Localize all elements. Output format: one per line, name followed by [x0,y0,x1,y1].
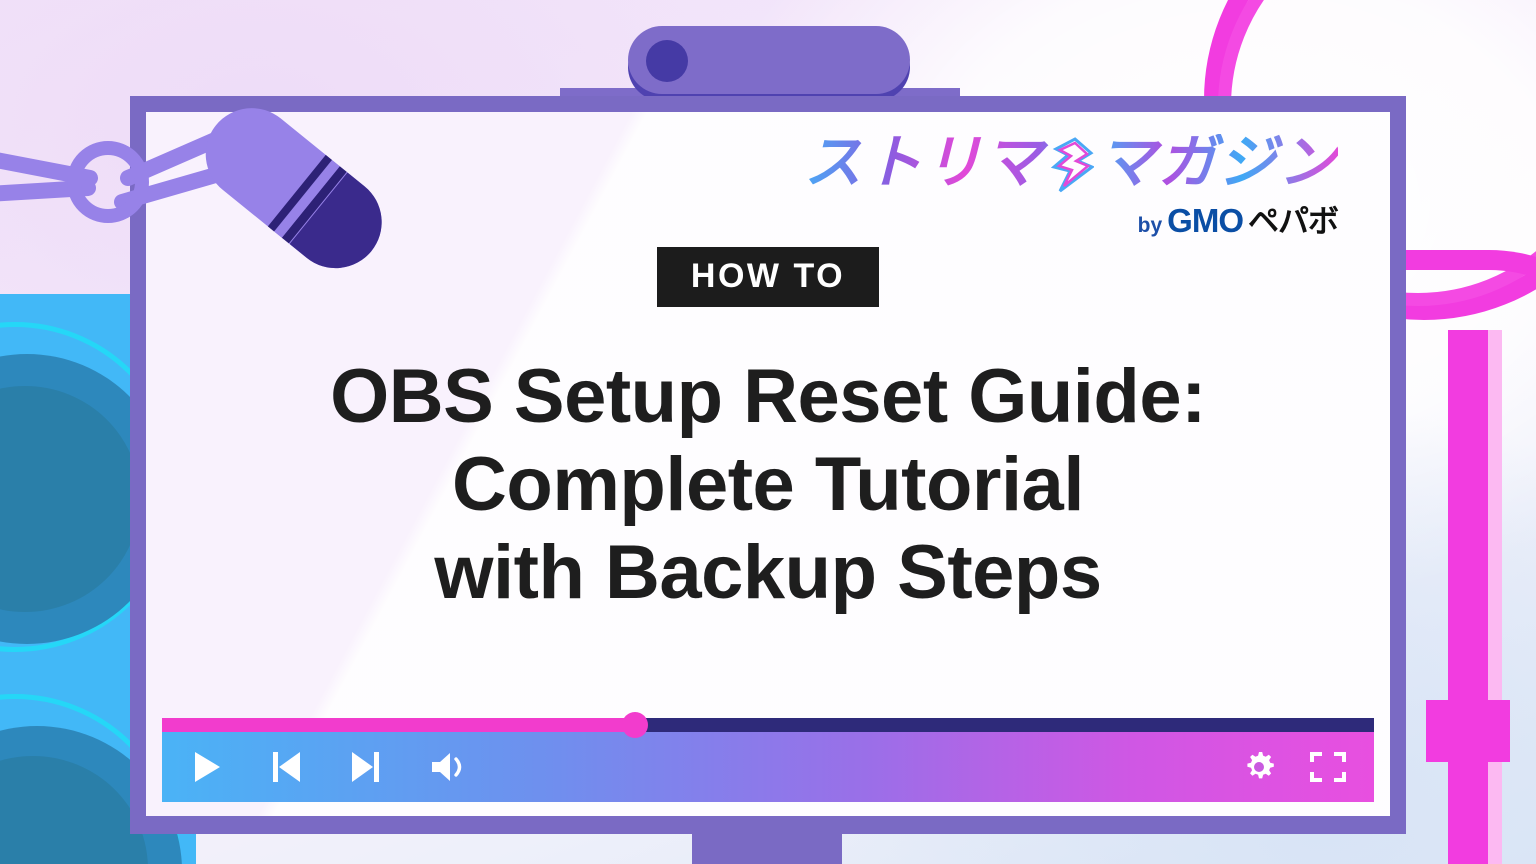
headphone-post [1448,330,1488,864]
player-options [1242,750,1346,784]
lightning-bolt-icon [1048,137,1094,193]
fullscreen-icon[interactable] [1310,752,1346,782]
headphone-earcup [1426,700,1510,762]
title-line-1: OBS Setup Reset Guide: [330,353,1206,441]
brand-wordmark: ストリマ マガジン [804,134,1338,192]
webcam-icon [628,26,910,94]
poster-canvas: ストリマ マガジン by GMO ペパボ [0,0,1536,864]
headphone-post-highlight [1486,330,1502,864]
brand-by-label: by [1138,214,1163,238]
previous-track-icon[interactable] [270,750,302,784]
settings-gear-icon[interactable] [1242,750,1276,784]
screen-content: ストリマ マガジン by GMO ペパボ [146,112,1390,718]
title-line-3: with Backup Steps [330,529,1206,617]
monitor-frame: ストリマ マガジン by GMO ペパボ [130,96,1406,834]
screen: ストリマ マガジン by GMO ペパボ [146,112,1390,816]
next-track-icon[interactable] [350,750,382,784]
player-control-bar [162,732,1374,802]
how-to-badge: HOW TO [657,247,879,307]
title-line-2: Complete Tutorial [330,441,1206,529]
page-title: OBS Setup Reset Guide: Complete Tutorial… [330,353,1206,617]
progress-bar-fill [162,718,635,732]
brand-byline: by GMO ペパボ [1138,196,1338,241]
webcam-lens-icon [646,40,688,82]
brand-wordmark-left: ストリマ [804,134,1044,192]
progress-bar[interactable] [162,718,1374,732]
video-player-controls [162,718,1374,802]
brand-logo: ストリマ マガジン by GMO ペパボ [804,134,1338,241]
play-icon[interactable] [192,750,222,784]
volume-icon[interactable] [430,750,470,784]
playback-controls [192,750,470,784]
brand-wordmark-right: マガジン [1098,134,1338,192]
brand-pepabo-label: ペパボ [1248,196,1338,241]
progress-handle[interactable] [622,712,648,738]
brand-gmo-label: GMO [1167,202,1243,240]
